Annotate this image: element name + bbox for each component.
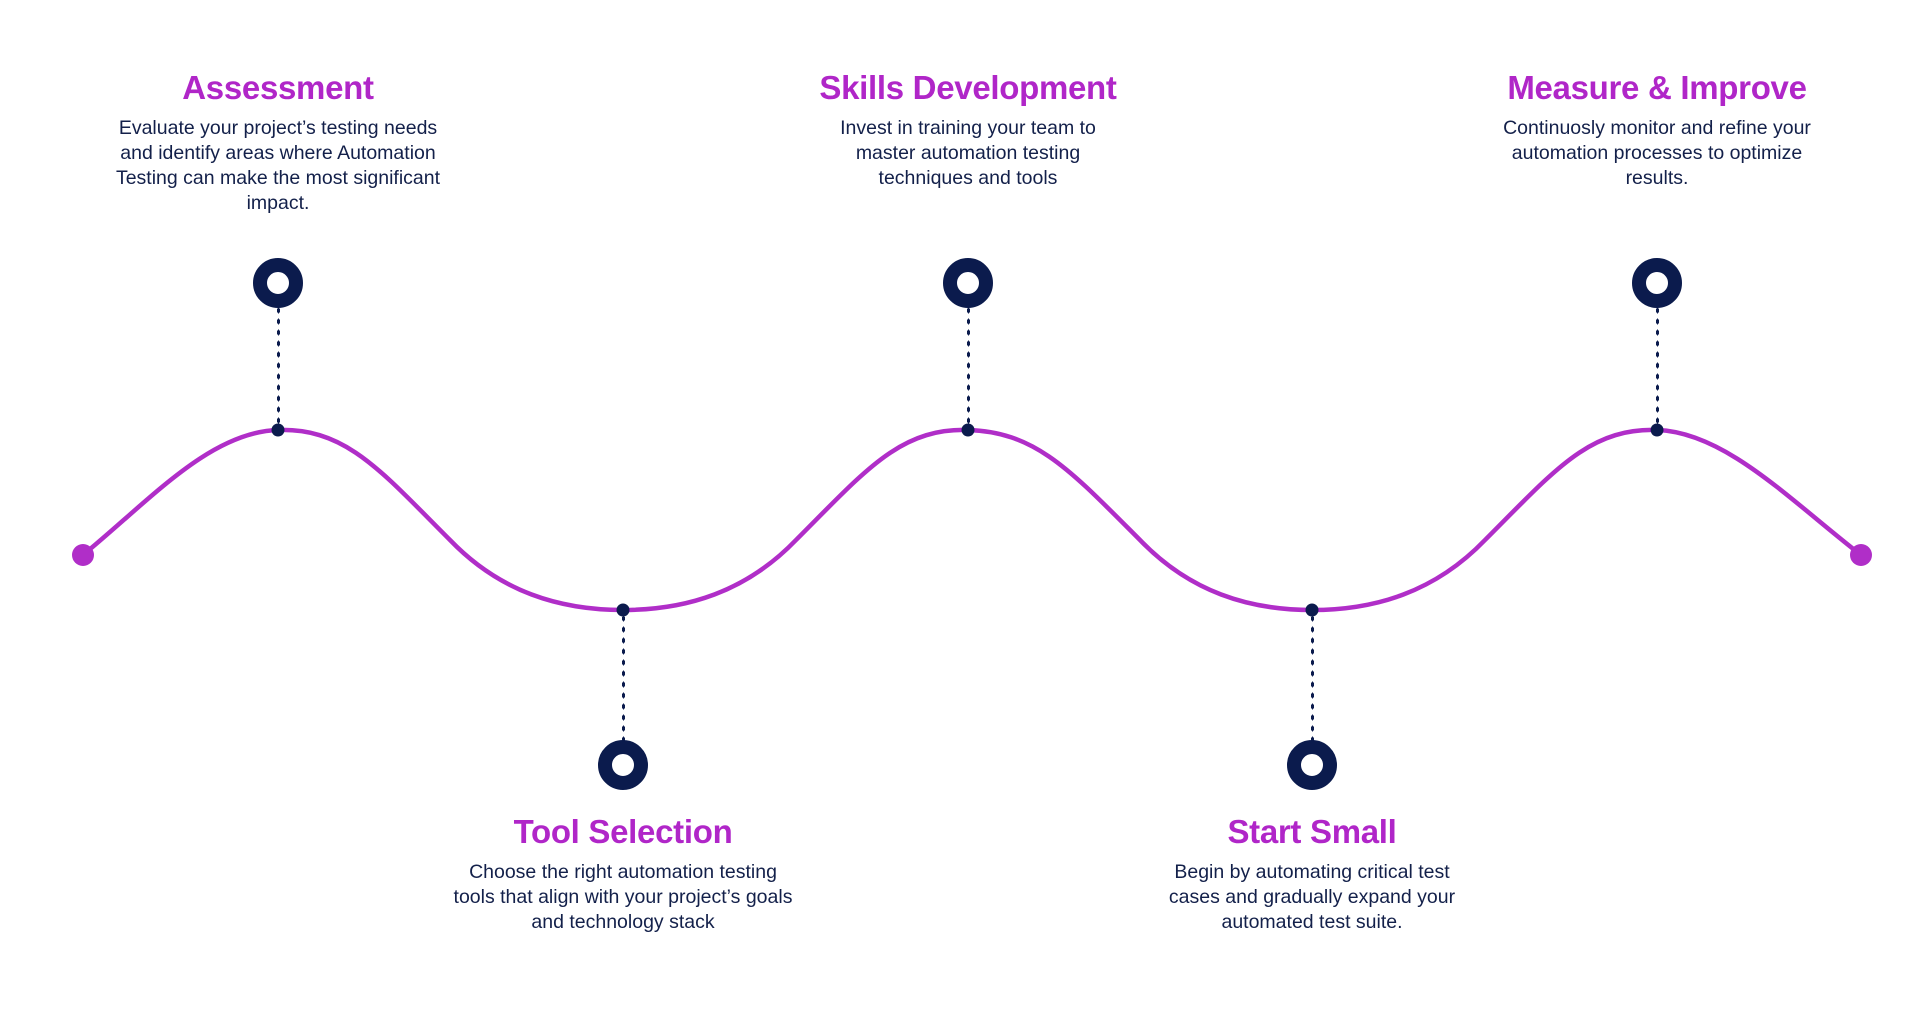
connector-step-1: [276, 305, 281, 430]
step-marker-2[interactable]: [598, 740, 648, 790]
step-marker-5[interactable]: [1632, 258, 1682, 308]
wave-end-dot: [1850, 544, 1872, 566]
step-description-start-small: Begin by automating critical test cases …: [1162, 851, 1462, 935]
step-block-start-small: Start Small Begin by automating critical…: [1162, 814, 1462, 935]
step-title-assessment: Assessment: [108, 70, 448, 107]
step-description-skills-development: Invest in training your team to master a…: [818, 107, 1118, 191]
step-description-measure-improve: Continuosly monitor and refine your auto…: [1497, 107, 1817, 191]
infographic-canvas: Assessment Evaluate your project’s testi…: [0, 0, 1920, 1030]
step-block-tool-selection: Tool Selection Choose the right automati…: [453, 814, 793, 935]
step-title-tool-selection: Tool Selection: [453, 814, 793, 851]
wave-start-dot: [72, 544, 94, 566]
connector-step-5: [1655, 305, 1660, 430]
connector-step-4: [1310, 613, 1315, 741]
step-block-measure-improve: Measure & Improve Continuosly monitor an…: [1497, 70, 1817, 191]
step-marker-3[interactable]: [943, 258, 993, 308]
step-description-assessment: Evaluate your project’s testing needs an…: [108, 107, 448, 216]
step-title-measure-improve: Measure & Improve: [1497, 70, 1817, 107]
connector-step-3: [966, 305, 971, 430]
connector-step-2: [621, 613, 626, 741]
step-marker-1[interactable]: [253, 258, 303, 308]
step-block-skills-development: Skills Development Invest in training yo…: [818, 70, 1118, 191]
step-block-assessment: Assessment Evaluate your project’s testi…: [108, 70, 448, 216]
step-title-skills-development: Skills Development: [818, 70, 1118, 107]
sine-wave-curve: [83, 430, 1861, 610]
step-marker-4[interactable]: [1287, 740, 1337, 790]
step-description-tool-selection: Choose the right automation testing tool…: [453, 851, 793, 935]
step-title-start-small: Start Small: [1162, 814, 1462, 851]
